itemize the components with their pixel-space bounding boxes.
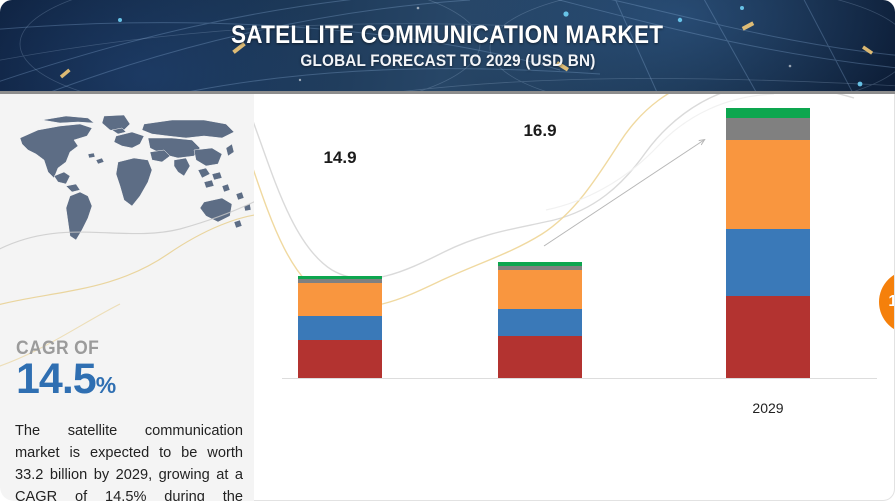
cagr-value: 14.5%: [16, 358, 246, 402]
page-title: SATELLITE COMMUNICATION MARKET: [231, 21, 663, 49]
header-divider: [0, 91, 895, 94]
cagr-label: CAGR OF: [16, 339, 228, 359]
bar-segment[interactable]: [726, 229, 810, 297]
bar-stack: [498, 262, 582, 378]
world-map-icon: [8, 110, 254, 252]
bar-segment[interactable]: [298, 316, 382, 339]
bar-segment[interactable]: [726, 118, 810, 141]
world-map-graphic: [8, 110, 254, 252]
bar-group-2024[interactable]: 16.9 2024: [498, 262, 582, 378]
bar-group-2029[interactable]: 33.2 2029: [726, 108, 810, 378]
bar-total-label: 14.9: [298, 148, 382, 168]
summary-panel: CAGR OF 14.5% The satellite communicatio…: [0, 94, 254, 501]
bar-stack: [726, 108, 810, 378]
chart-panel: 14.9 2023 16.9 2024 33.2 2029 14.5% Nort…: [254, 94, 895, 501]
summary-paragraph: The satellite communication market is ex…: [15, 420, 243, 501]
bar-segment[interactable]: [726, 296, 810, 378]
bar-segment[interactable]: [498, 309, 582, 336]
infographic-root: SATELLITE COMMUNICATION MARKET GLOBAL FO…: [0, 0, 895, 501]
bar-segment[interactable]: [498, 270, 582, 308]
bar-segment[interactable]: [298, 340, 382, 378]
x-axis-label: 2029: [703, 400, 833, 416]
cagr-block: CAGR OF 14.5%: [16, 339, 246, 402]
bar-total-label: 16.9: [498, 121, 582, 141]
cagr-number: 14.5: [16, 355, 96, 403]
page-subtitle: GLOBAL FORECAST TO 2029 (USD BN): [300, 51, 595, 71]
bar-segment[interactable]: [498, 336, 582, 378]
bar-plot-area: 14.9 2023 16.9 2024 33.2 2029: [254, 94, 895, 501]
bar-segment[interactable]: [726, 108, 810, 118]
bar-group-2023[interactable]: 14.9 2023: [298, 276, 382, 378]
bar-stack: [298, 276, 382, 378]
header-banner: SATELLITE COMMUNICATION MARKET GLOBAL FO…: [0, 0, 895, 91]
cagr-percent-symbol: %: [96, 372, 116, 398]
bar-segment[interactable]: [298, 283, 382, 317]
bar-segment[interactable]: [726, 140, 810, 228]
